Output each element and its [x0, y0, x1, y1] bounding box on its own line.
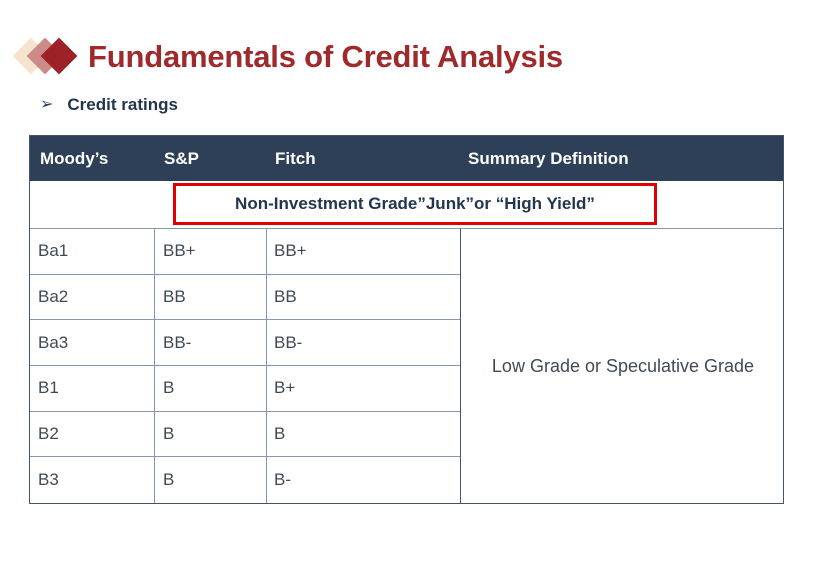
ratings-columns-group: Ba1 BB+ BB+ Ba2 BB BB Ba3 BB- BB- B1 B: [30, 229, 460, 503]
cell-moodys: Ba1: [38, 241, 68, 261]
table-body: Ba1 BB+ BB+ Ba2 BB BB Ba3 BB- BB- B1 B: [30, 229, 783, 503]
bullet-credit-ratings: ➢ Credit ratings: [40, 94, 178, 116]
cell-moodys: B1: [38, 378, 59, 398]
summary-definition-label: Low Grade or Speculative Grade: [492, 356, 754, 377]
page-title: Fundamentals of Credit Analysis: [88, 41, 563, 72]
cell-fitch: BB+: [274, 241, 307, 261]
table-row: B2 B B: [30, 412, 460, 458]
cell-fitch: BB: [274, 287, 297, 307]
cell-sp: BB+: [163, 241, 196, 261]
summary-definition-merged-cell: Low Grade or Speculative Grade: [460, 229, 785, 503]
cell-sp: BB-: [163, 333, 191, 353]
cell-fitch: B+: [274, 378, 295, 398]
diamond-cluster-icon: [18, 34, 80, 78]
table-row: Ba3 BB- BB-: [30, 320, 460, 366]
cell-sp: B: [163, 378, 174, 398]
cell-fitch: B: [274, 424, 285, 444]
column-header-summary: Summary Definition: [468, 149, 629, 169]
table-row: Ba2 BB BB: [30, 275, 460, 321]
column-header-moodys: Moody’s: [40, 149, 108, 169]
table-row: Ba1 BB+ BB+: [30, 229, 460, 275]
table-subtitle-row: Non-Investment Grade”Junk”or “High Yield…: [30, 181, 783, 229]
bullet-label: Credit ratings: [67, 95, 178, 115]
column-header-fitch: Fitch: [275, 149, 316, 169]
non-investment-grade-highlight-box: Non-Investment Grade”Junk”or “High Yield…: [173, 183, 657, 225]
table-row: B3 B B-: [30, 457, 460, 503]
cell-sp: B: [163, 424, 174, 444]
column-header-sp: S&P: [164, 149, 199, 169]
cell-moodys: Ba3: [38, 333, 68, 353]
table-header-row: Moody’s S&P Fitch Summary Definition: [30, 136, 783, 181]
cell-sp: BB: [163, 287, 186, 307]
cell-moodys: B3: [38, 470, 59, 490]
cell-sp: B: [163, 470, 174, 490]
slide-canvas: Fundamentals of Credit Analysis ➢ Credit…: [0, 0, 828, 565]
cell-moodys: Ba2: [38, 287, 68, 307]
slide-title-row: Fundamentals of Credit Analysis: [18, 28, 563, 84]
chevron-arrow-bullet-icon: ➢: [40, 97, 53, 113]
table-row: B1 B B+: [30, 366, 460, 412]
subtitle-banner-label: Non-Investment Grade”Junk”or “High Yield…: [235, 194, 595, 214]
cell-moodys: B2: [38, 424, 59, 444]
cell-fitch: B-: [274, 470, 291, 490]
credit-ratings-table: Moody’s S&P Fitch Summary Definition Non…: [29, 135, 784, 504]
cell-fitch: BB-: [274, 333, 302, 353]
